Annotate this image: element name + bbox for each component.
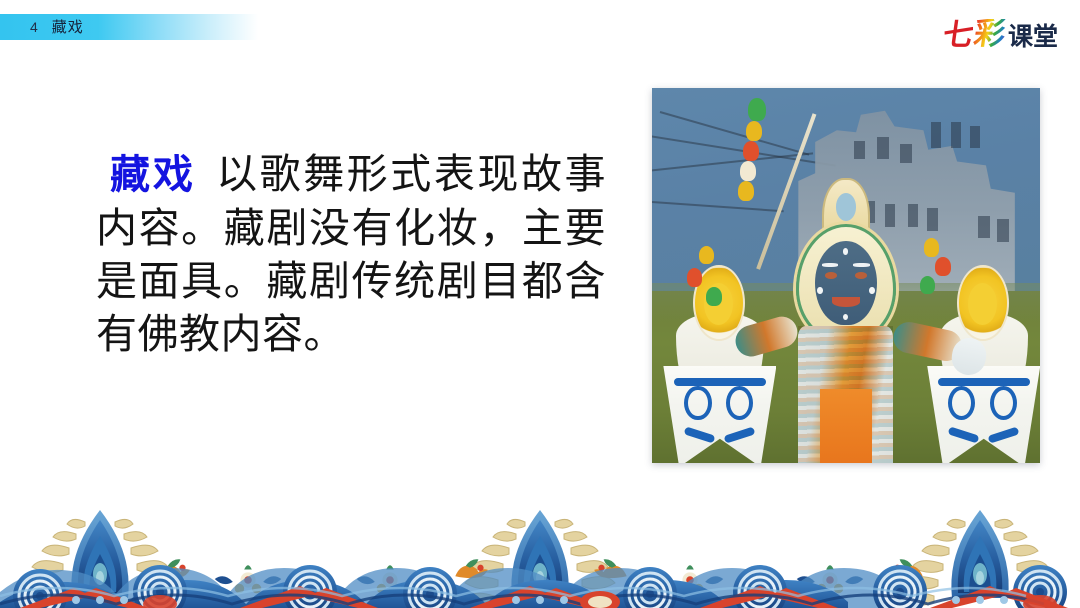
- photo-palace-window: [854, 141, 866, 160]
- photo-staff-tuft: [935, 257, 951, 276]
- photo-palace-window: [951, 122, 961, 148]
- photo-palace-window: [927, 208, 937, 231]
- photo-staff-tuft: [924, 238, 940, 257]
- photo-staff-tuft: [706, 287, 722, 306]
- photo-staff-tuft: [740, 161, 756, 181]
- lesson-number: 4: [30, 20, 38, 34]
- photo-mask-chin-dot: [843, 314, 849, 321]
- photo-cape-swirl: [684, 386, 711, 420]
- photo-staff-tuft: [699, 246, 715, 265]
- photo-sun-mask-face: [968, 283, 997, 325]
- photo-mask-cheek-dot: [817, 287, 823, 294]
- photo-performer-center: [780, 178, 912, 463]
- wave-border-svg: [0, 480, 1080, 608]
- photo-sun-mask: [957, 265, 1009, 342]
- photo-palace-window: [978, 216, 990, 239]
- wave-border-decoration: [0, 480, 1080, 608]
- tibetan-opera-photo: [652, 88, 1040, 463]
- brand-logo-ketang: 课堂: [1008, 24, 1058, 49]
- photo-mask-brow: [822, 263, 838, 266]
- header-bar: 4 藏戏: [0, 14, 258, 40]
- photo-palace-window: [970, 126, 980, 149]
- brand-logo: 七 彩 课堂: [943, 20, 1058, 51]
- photo-mask-cheek-dot: [869, 287, 875, 294]
- photo-staff-tuft: [746, 121, 762, 141]
- page-title: 藏戏: [52, 20, 84, 35]
- photo-mask-brow: [853, 263, 869, 266]
- lesson-body-text: 藏戏以歌舞形式表现故事内容。藏剧没有化妆，主要是面具。藏剧传统剧目都含有佛教内容…: [96, 148, 606, 361]
- photo-mask-eye: [855, 272, 867, 280]
- brand-logo-cai: 彩: [972, 19, 1007, 50]
- photo-staff-tuft: [738, 181, 754, 201]
- photo-blue-mask-face: [815, 241, 877, 325]
- photo-palace-window: [900, 144, 912, 163]
- photo-palace-window: [931, 122, 941, 148]
- photo-staff-tuft: [748, 98, 765, 121]
- photo-cape-band: [674, 378, 766, 386]
- brand-logo-qi: 七: [941, 21, 975, 51]
- photo-cape-band: [938, 378, 1030, 386]
- photo-staff-tuft: [920, 276, 936, 295]
- photo-palace-window: [997, 219, 1009, 242]
- photo-skirt: [820, 389, 873, 463]
- body-keyword: 藏戏: [110, 152, 196, 198]
- slide-canvas: 4 藏戏 七 彩 课堂 藏戏以歌舞形式表现故事内容。藏剧没有化妆，主要是面具。藏…: [0, 0, 1080, 608]
- header-bar-content: 4 藏戏: [0, 14, 258, 40]
- photo-content: [652, 88, 1040, 463]
- photo-mask-forehead-dot: [843, 248, 849, 255]
- photo-staff-tuft: [687, 268, 703, 287]
- photo-palace-window: [877, 137, 889, 160]
- photo-mask-eye: [825, 272, 837, 280]
- photo-staff-tuft: [743, 141, 759, 161]
- photo-mask-mouth: [832, 297, 859, 307]
